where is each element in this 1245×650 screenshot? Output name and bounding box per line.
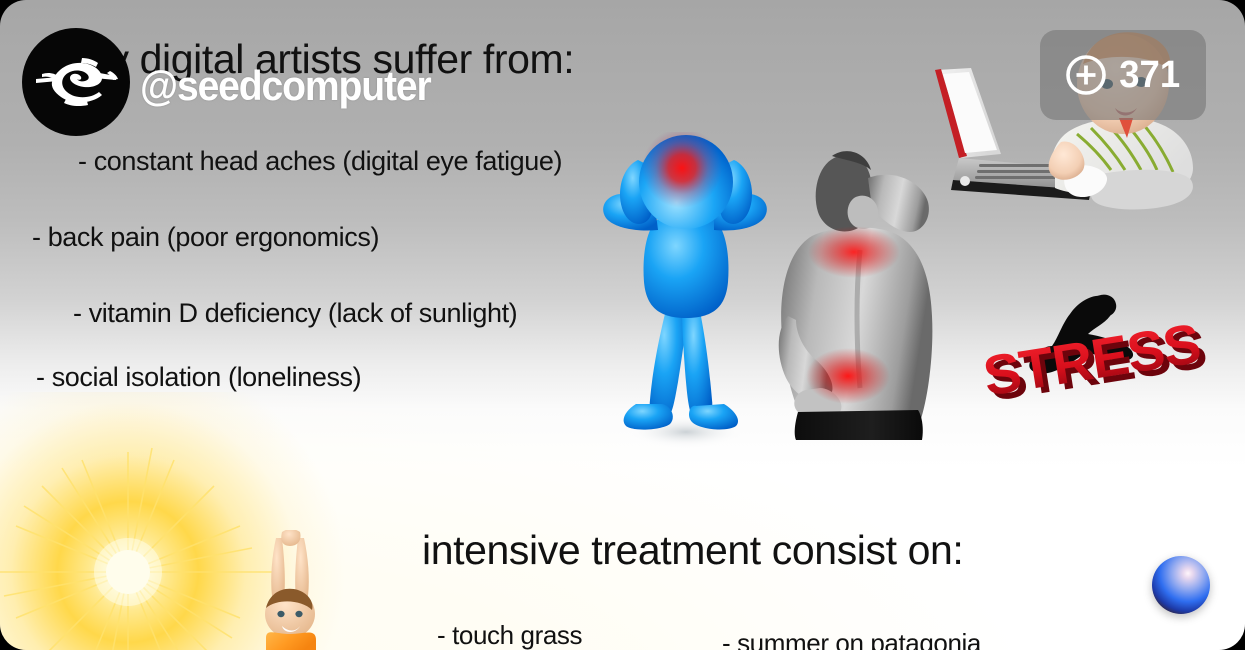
section-title-treatment: intensive treatment consist on: xyxy=(422,527,963,574)
seed-logo-icon xyxy=(22,28,130,136)
list-item: - social isolation (loneliness) xyxy=(36,362,361,393)
watermark-handle: @seedcomputer xyxy=(140,62,431,110)
svg-text:STRESS: STRESS xyxy=(979,311,1204,400)
blue-figure-headache-image xyxy=(600,132,772,452)
yoga-child-image xyxy=(232,530,352,650)
stress-word-image: STRESS STRESS xyxy=(978,288,1220,400)
meme-image-canvas: STRESS STRESS xyxy=(0,0,1245,650)
badge-count: 371 xyxy=(1120,54,1181,97)
avatar[interactable] xyxy=(22,28,130,136)
sunburst-image xyxy=(0,392,360,650)
svg-text:STRESS: STRESS xyxy=(985,316,1210,400)
back-pain-man-image xyxy=(772,140,952,440)
list-item: - constant head aches (digital eye fatig… xyxy=(78,146,562,177)
list-item: - back pain (poor ergonomics) xyxy=(32,222,379,253)
status-badge[interactable]: 371 xyxy=(1040,30,1206,120)
list-item: - touch grass xyxy=(437,620,582,650)
plus-circle-icon xyxy=(1064,53,1108,97)
list-item: - vitamin D deficiency (lack of sunlight… xyxy=(73,298,517,329)
blue-sphere-icon xyxy=(1152,556,1210,614)
list-item: - summer on patagonia xyxy=(722,628,981,650)
